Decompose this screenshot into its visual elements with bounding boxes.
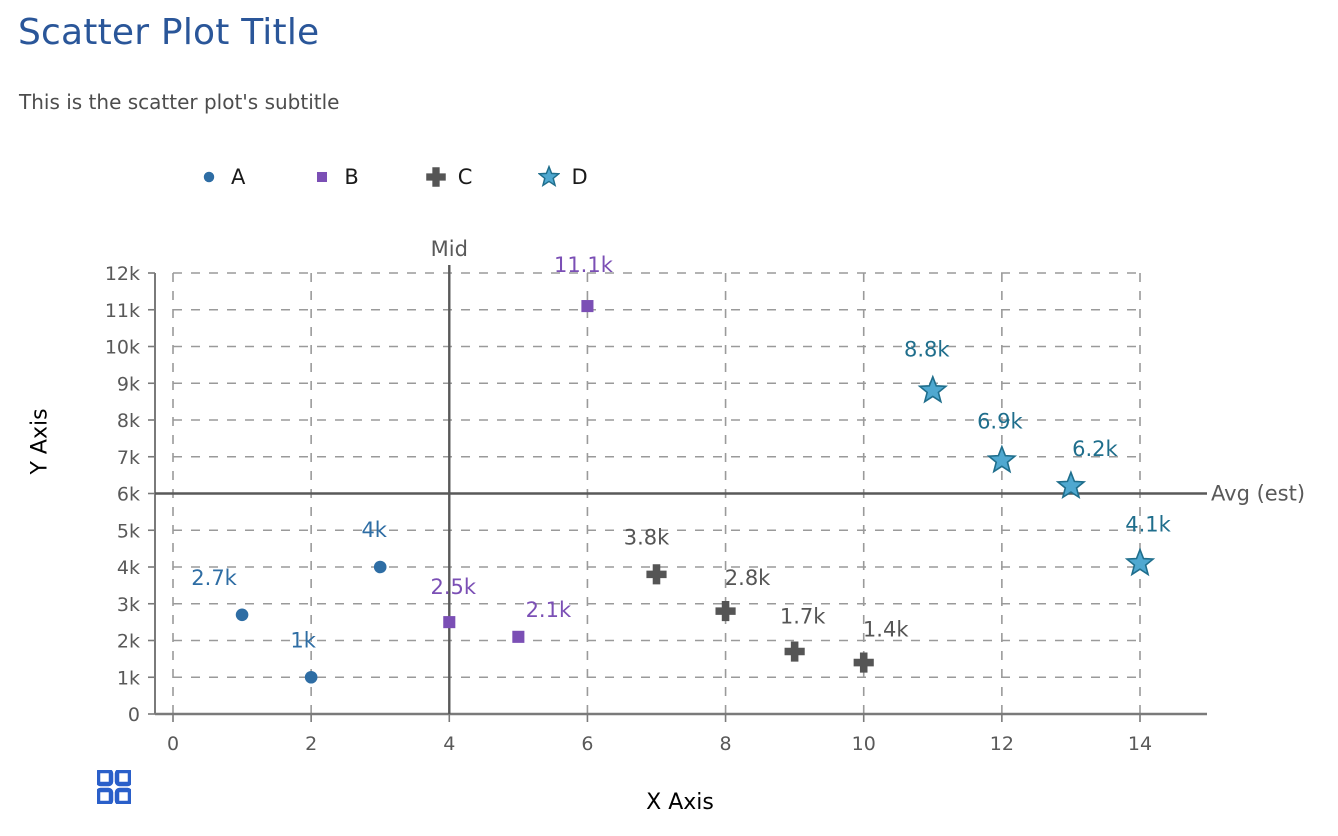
data-point-label: 1.7k	[780, 605, 826, 629]
y-axis-tick-label: 8k	[117, 410, 140, 432]
series-B: 2.5k2.1k11.1k	[431, 253, 614, 643]
y-axis-tick-label: 5k	[117, 520, 140, 542]
scatter-plot: MidAvg (est) 01k2k3k4k5k6k7k8k9k10k11k12…	[0, 0, 1338, 836]
y-axis-tick-label: 9k	[117, 373, 140, 395]
y-axis-tick-label: 11k	[105, 300, 140, 322]
avg-line-label: Avg (est)	[1211, 482, 1305, 506]
x-axis-tick-label: 6	[581, 733, 593, 755]
x-axis-tick-label: 10	[852, 733, 876, 755]
mid-line-label: Mid	[431, 237, 468, 261]
y-axis-tick-label: 0	[128, 704, 140, 726]
x-axis-tick-label: 12	[990, 733, 1014, 755]
x-axis-tick-label: 0	[167, 733, 179, 755]
data-point-label: 1.4k	[863, 618, 909, 642]
y-axis-tick-label: 6k	[117, 484, 140, 506]
data-point-label: 8.8k	[904, 338, 950, 362]
y-axis-tick-label: 2k	[117, 631, 140, 653]
x-axis-tick-label: 14	[1128, 733, 1152, 755]
data-point-label: 4k	[361, 518, 387, 542]
axis-tick-labels-layer: 01k2k3k4k5k6k7k8k9k10k11k12k02468101214	[105, 263, 1152, 755]
data-point-b[interactable]	[443, 616, 455, 628]
data-point-label: 6.2k	[1072, 437, 1118, 461]
y-axis-tick-label: 7k	[117, 447, 140, 469]
data-point-label: 2.1k	[526, 598, 572, 622]
data-point-c[interactable]	[854, 652, 874, 672]
x-axis-tick-label: 2	[305, 733, 317, 755]
x-axis-title: X Axis	[560, 790, 800, 815]
data-point-label: 11.1k	[554, 253, 614, 277]
y-axis-tick-label: 1k	[117, 667, 140, 689]
data-point-b[interactable]	[512, 631, 524, 643]
y-axis-tick-label: 4k	[117, 557, 140, 579]
series-C: 3.8k2.8k1.7k1.4k	[624, 525, 910, 672]
data-point-d[interactable]	[989, 447, 1015, 472]
data-point-label: 4.1k	[1125, 512, 1171, 536]
data-points-layer: 2.7k1k4k2.5k2.1k11.1k3.8k2.8k1.7k1.4k8.8…	[191, 253, 1171, 683]
y-axis-tick-label: 3k	[117, 594, 140, 616]
data-point-a[interactable]	[374, 561, 387, 574]
data-point-label: 3.8k	[624, 525, 670, 549]
data-point-label: 6.9k	[977, 409, 1023, 433]
y-axis-title: Y Axis	[28, 431, 53, 475]
grid-icon[interactable]	[97, 770, 131, 804]
data-point-label: 2.7k	[191, 566, 237, 590]
data-point-a[interactable]	[236, 608, 249, 621]
data-point-label: 1k	[290, 628, 316, 652]
reference-lines-layer: MidAvg (est)	[155, 237, 1305, 714]
y-axis-tick-label: 12k	[105, 263, 140, 285]
data-point-c[interactable]	[785, 641, 805, 661]
data-point-b[interactable]	[581, 300, 593, 312]
data-point-d[interactable]	[920, 377, 946, 402]
data-point-a[interactable]	[305, 671, 318, 684]
data-point-label: 2.8k	[725, 566, 771, 590]
axis-layer	[148, 273, 1207, 722]
x-axis-tick-label: 8	[720, 733, 732, 755]
data-point-label: 2.5k	[431, 575, 477, 599]
data-point-d[interactable]	[1127, 550, 1153, 575]
series-A: 2.7k1k4k	[191, 518, 388, 684]
y-axis-tick-label: 10k	[105, 337, 140, 359]
x-axis-tick-label: 4	[443, 733, 455, 755]
